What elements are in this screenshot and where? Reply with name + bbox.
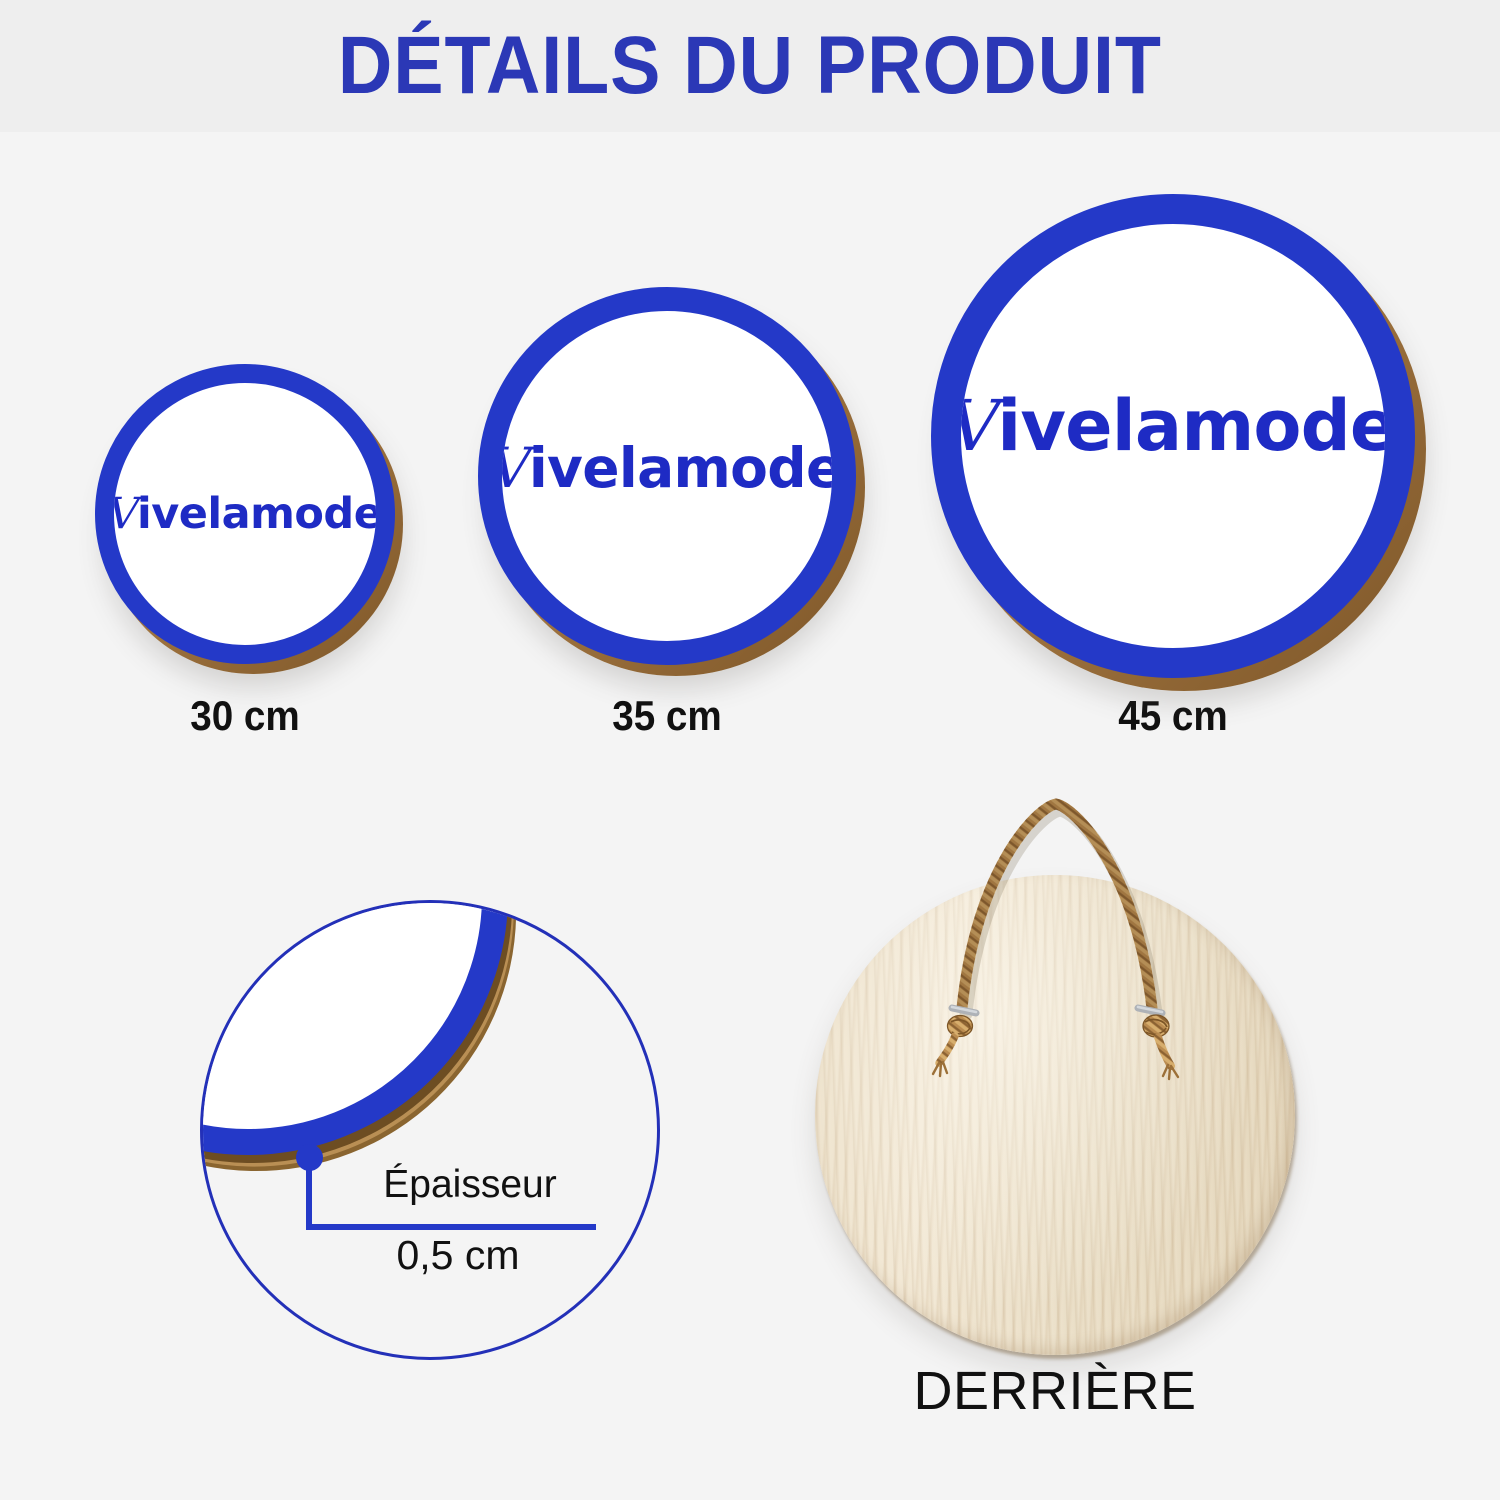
product-disc-30cm[interactable]: Vivelamode (95, 364, 395, 664)
logo-text-45cm: ivelamode (997, 385, 1396, 467)
disc-face-35cm: Vivelamode (478, 287, 856, 665)
hanging-rope-group (800, 760, 1310, 1420)
size-label-35cm: 35 cm (493, 692, 841, 740)
size-label-45cm: 45 cm (950, 692, 1395, 740)
thickness-detail-panel: Épaisseur 0,5 cm (200, 900, 660, 1360)
product-disc-45cm[interactable]: Vivelamode (931, 194, 1415, 678)
back-view-panel: DERRIÈRE (800, 760, 1310, 1420)
thickness-label: Épaisseur (340, 1163, 600, 1207)
logo-initial-45cm: V (948, 391, 998, 461)
magnifier-circle (200, 900, 660, 1360)
product-disc-35cm[interactable]: Vivelamode (478, 287, 856, 665)
page-header: DÉTAILS DU PRODUIT (0, 0, 1500, 132)
logo-initial-30cm: V (107, 493, 138, 536)
size-label-30cm: 30 cm (107, 692, 383, 740)
thickness-pointer-dot (296, 1144, 323, 1171)
thickness-underline (306, 1224, 596, 1230)
brand-logo-45cm: Vivelamode (949, 391, 1396, 461)
rope-knot-left (933, 1016, 973, 1077)
logo-text-30cm: ivelamode (137, 489, 382, 539)
logo-initial-35cm: V (491, 441, 530, 496)
rope-knot-right (1143, 1015, 1178, 1079)
disc-face-45cm: Vivelamode (931, 194, 1415, 678)
thickness-value: 0,5 cm (328, 1232, 588, 1279)
page-title: DÉTAILS DU PRODUIT (338, 25, 1162, 107)
size-comparison-row: Vivelamode 30 cm Vivelamode 35 cm Vivela… (0, 132, 1500, 752)
brand-logo-35cm: Vivelamode (491, 441, 842, 496)
brand-logo-30cm: Vivelamode (108, 493, 383, 536)
logo-text-35cm: ivelamode (529, 436, 843, 500)
disc-face-30cm: Vivelamode (95, 364, 395, 664)
